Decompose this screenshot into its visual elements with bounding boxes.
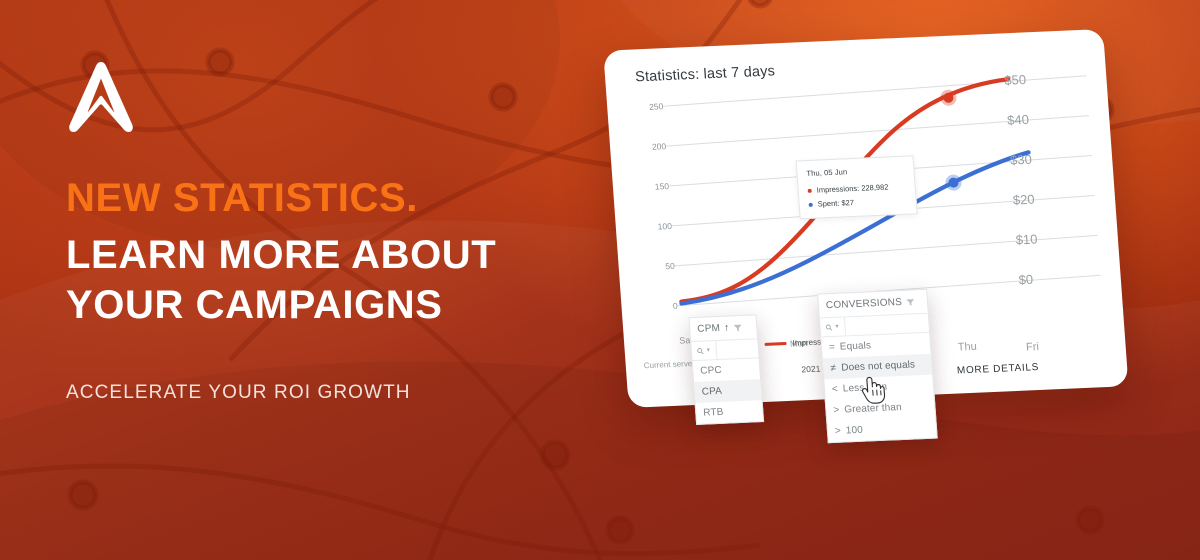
conversions-search-toggle[interactable]: ▼ <box>820 317 846 336</box>
right-axis-tick: $0 <box>1018 272 1034 288</box>
promo-banner: NEW STATISTICS. LEARN MORE ABOUT YOUR CA… <box>0 0 1200 560</box>
option-symbol: < <box>832 384 841 395</box>
left-axis-tick: 250 <box>649 101 664 112</box>
conversions-search-input[interactable] <box>845 314 929 336</box>
option-label: Equals <box>839 340 871 352</box>
option-symbol: ≠ <box>830 363 839 374</box>
hand-pointer-cursor-icon <box>859 374 887 405</box>
cpm-search-toggle[interactable]: ▼ <box>691 341 717 360</box>
tooltip-date: Thu, 05 Jun <box>806 165 905 178</box>
spent-dot-icon <box>809 202 813 206</box>
option-label: Does not equals <box>841 359 916 373</box>
tooltip-impressions-label: Impressions: 228,982 <box>816 182 888 194</box>
funnel-filter-icon[interactable] <box>733 323 743 331</box>
tooltip-row-impressions: Impressions: 228,982 <box>807 182 906 195</box>
left-axis-tick: 200 <box>652 141 667 152</box>
headline-line-1: LEARN MORE ABOUT <box>66 235 606 275</box>
headline-accent: NEW STATISTICS. <box>66 178 606 218</box>
chart-tooltip: Thu, 05 Jun Impressions: 228,982 Spent: … <box>796 155 918 219</box>
cpm-panel-header[interactable]: CPM ↑ <box>690 315 758 342</box>
left-axis-tick: 50 <box>665 261 675 271</box>
cpm-option-cpa[interactable]: CPA <box>694 379 761 403</box>
right-axis-tick: $30 <box>1010 152 1033 168</box>
option-symbol: > <box>835 426 844 437</box>
impressions-dot-icon <box>808 188 812 192</box>
conversions-dropdown-panel[interactable]: CONVERSIONS ▼ = Equals <box>817 289 938 443</box>
chevron-down-icon: ▼ <box>706 348 711 353</box>
right-axis-tick: $40 <box>1007 112 1030 128</box>
magnifier-search-icon <box>825 323 832 330</box>
left-axis-tick: 150 <box>654 181 669 192</box>
x-axis-tick: Thu <box>957 341 977 354</box>
hero-content: NEW STATISTICS. LEARN MORE ABOUT YOUR CA… <box>66 0 626 560</box>
cpm-dropdown-panel[interactable]: CPM ↑ ▼ CPC CPA RTB <box>688 314 764 425</box>
cpm-search-input[interactable] <box>716 339 758 359</box>
tooltip-spent-label: Spent: $27 <box>817 198 854 209</box>
headline-line-2: YOUR CAMPAIGNS <box>66 285 606 325</box>
card-title: Statistics: last 7 days <box>635 63 776 85</box>
cpm-header-label: CPM <box>697 323 721 335</box>
arrow-navigation-logo-icon <box>68 62 134 134</box>
legend-line-red-icon <box>764 342 786 346</box>
funnel-filter-icon[interactable] <box>906 298 916 306</box>
cpm-option-cpc[interactable]: CPC <box>693 358 760 382</box>
hero-subtitle: ACCELERATE YOUR ROI GROWTH <box>66 382 411 404</box>
headline-block: NEW STATISTICS. LEARN MORE ABOUT YOUR CA… <box>66 178 606 335</box>
option-symbol: = <box>829 342 838 353</box>
option-symbol: > <box>833 405 842 416</box>
chevron-down-icon: ▼ <box>834 324 839 329</box>
cpm-option-rtb[interactable]: RTB <box>696 400 763 424</box>
right-axis-tick: $20 <box>1012 192 1035 208</box>
conversions-header-label: CONVERSIONS <box>826 297 903 311</box>
left-axis-tick: 0 <box>673 301 678 311</box>
sort-ascending-arrow-icon[interactable]: ↑ <box>724 322 730 333</box>
right-axis-tick: $50 <box>1004 72 1027 88</box>
tooltip-row-spent: Spent: $27 <box>808 196 907 209</box>
right-axis-tick: $10 <box>1015 231 1038 247</box>
x-axis-tick: Fri <box>1026 341 1040 354</box>
more-details-button[interactable]: MORE DETAILS <box>957 362 1040 377</box>
magnifier-search-icon <box>697 347 704 354</box>
dashboard-mockup: Statistics: last 7 days <box>603 29 1128 410</box>
option-label: 100 <box>845 425 863 437</box>
conversions-option-value-100[interactable]: > 100 <box>827 417 936 443</box>
left-axis-tick: 100 <box>657 221 672 232</box>
server-time-label: Current server <box>643 359 695 370</box>
